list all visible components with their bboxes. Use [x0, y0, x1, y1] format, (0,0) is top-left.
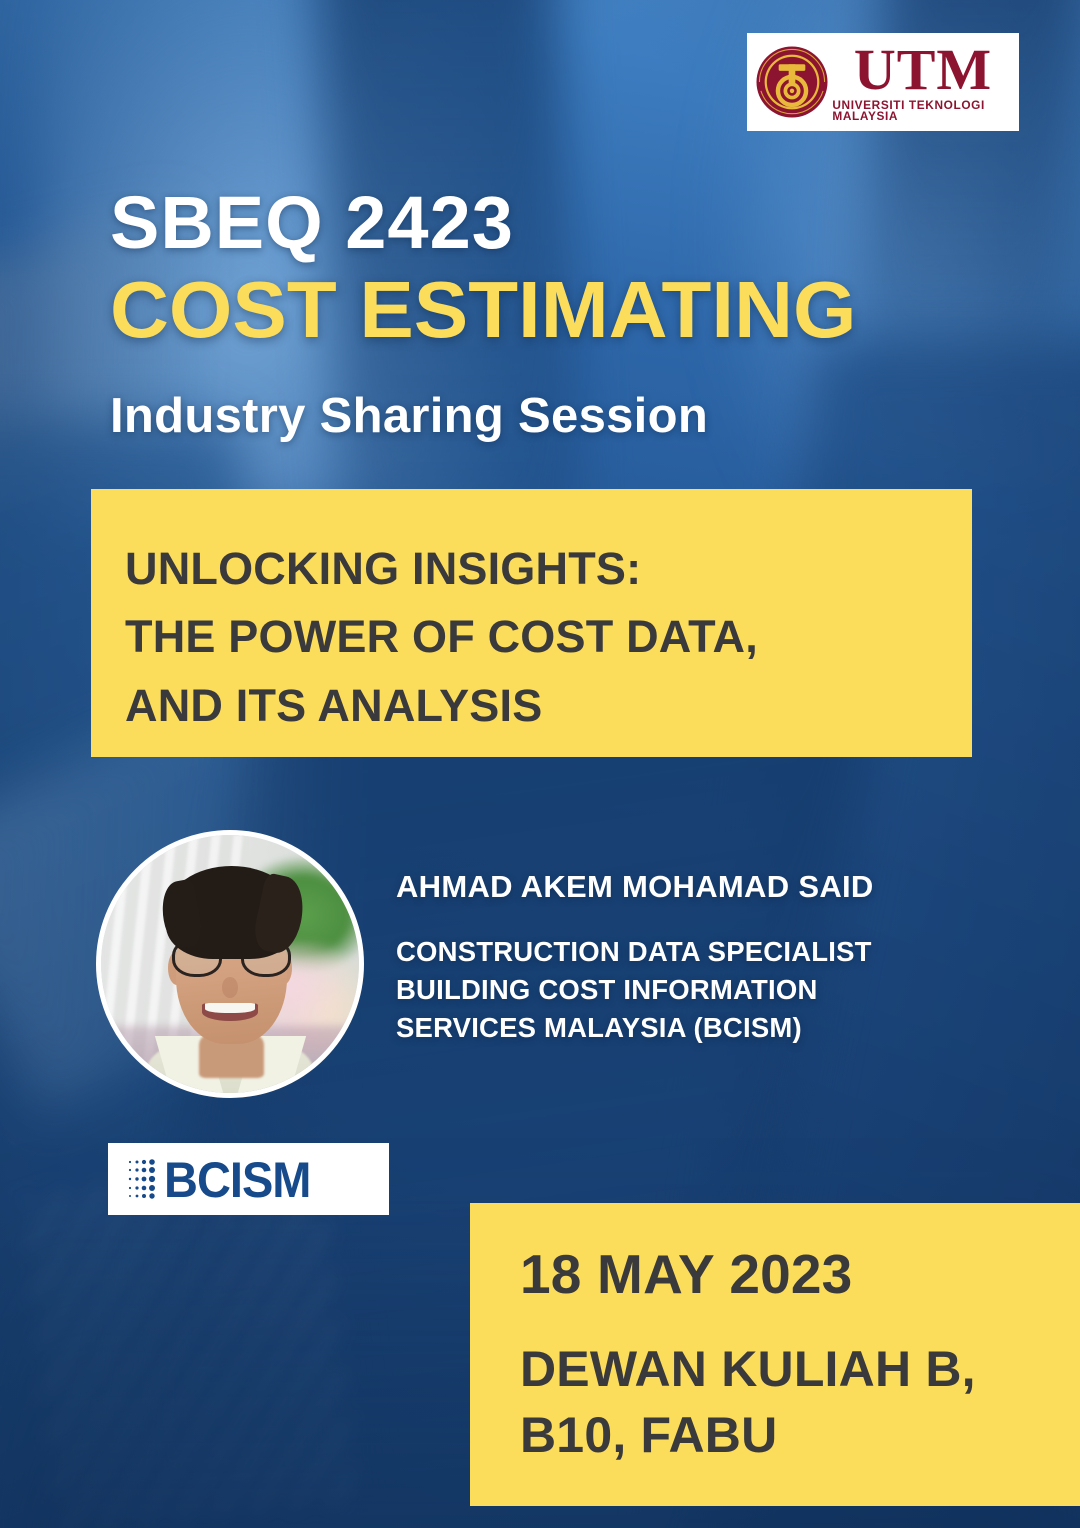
headline-block: SBEQ 2423 COST ESTIMATING Industry Shari… — [110, 186, 1010, 441]
speaker-role-line-3: SERVICES MALAYSIA (BCISM) — [396, 1009, 996, 1047]
utm-logo-name: UTM — [854, 41, 992, 99]
speaker-role: CONSTRUCTION DATA SPECIALIST BUILDING CO… — [396, 933, 996, 1047]
speaker-role-line-2: BUILDING COST INFORMATION — [396, 971, 996, 1009]
utm-logo-subtitle: UNIVERSITI TEKNOLOGI MALAYSIA — [832, 101, 1013, 124]
bcism-logo-name: BCISM — [164, 1154, 310, 1204]
event-venue-line-2: B10, FABU — [520, 1402, 1080, 1468]
event-poster: UTM UNIVERSITI TEKNOLOGI MALAYSIA SBEQ 2… — [0, 0, 1080, 1528]
utm-crest-icon — [755, 45, 829, 119]
event-venue: DEWAN KULIAH B, B10, FABU — [520, 1336, 1080, 1468]
bcism-dot-matrix-icon — [126, 1157, 160, 1201]
bcism-logo: BCISM — [108, 1143, 389, 1215]
speaker-photo — [96, 830, 364, 1098]
event-date: 18 MAY 2023 — [520, 1247, 1080, 1302]
event-details-box: 18 MAY 2023 DEWAN KULIAH B, B10, FABU — [470, 1203, 1080, 1506]
session-type: Industry Sharing Session — [110, 392, 1010, 441]
topic-box: UNLOCKING INSIGHTS: THE POWER OF COST DA… — [91, 489, 972, 757]
topic-line-1: UNLOCKING INSIGHTS: — [125, 535, 972, 603]
course-title: COST ESTIMATING — [110, 268, 1028, 352]
event-venue-line-1: DEWAN KULIAH B, — [520, 1336, 1080, 1402]
speaker-role-line-1: CONSTRUCTION DATA SPECIALIST — [396, 933, 996, 971]
course-code: SBEQ 2423 — [110, 186, 1010, 260]
topic-line-3: AND ITS ANALYSIS — [125, 672, 972, 740]
speaker-name: AHMAD AKEM MOHAMAD SAID — [396, 868, 996, 905]
utm-logo: UTM UNIVERSITI TEKNOLOGI MALAYSIA — [747, 33, 1019, 131]
speaker-info: AHMAD AKEM MOHAMAD SAID CONSTRUCTION DAT… — [396, 868, 996, 1047]
topic-line-2: THE POWER OF COST DATA, — [125, 603, 972, 671]
